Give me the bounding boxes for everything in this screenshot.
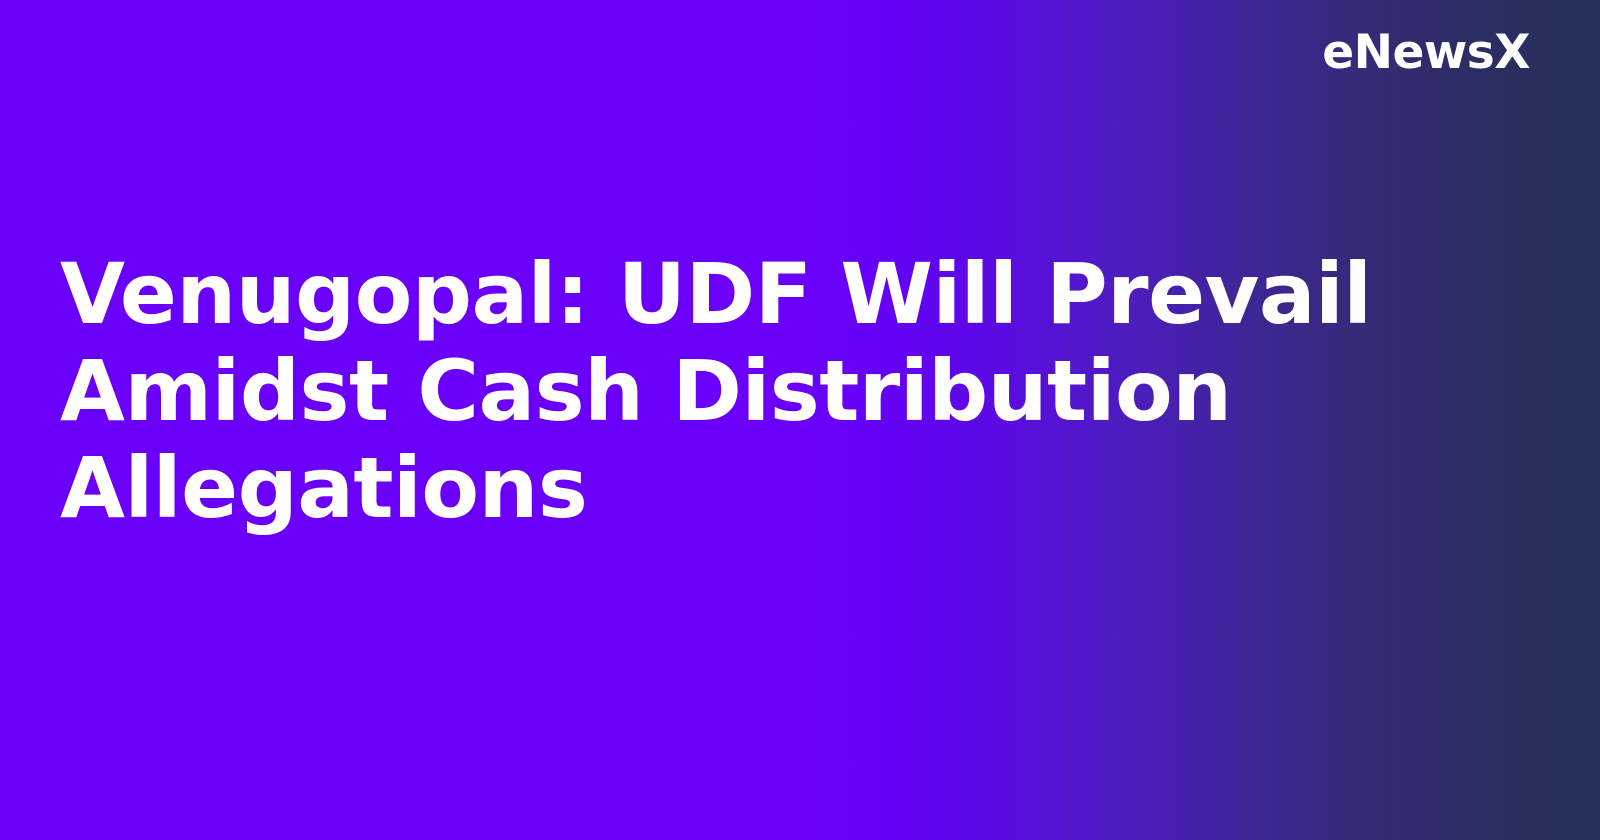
headline-line-1: Venugopal: UDF Will Prevail [60,246,1460,343]
headline-block: Venugopal: UDF Will Prevail Amidst Cash … [60,246,1460,537]
brand-header: eNewsX [0,26,1530,80]
page-title: Venugopal: UDF Will Prevail Amidst Cash … [60,246,1460,537]
headline-line-2: Amidst Cash Distribution [60,343,1460,440]
news-headline-card: eNewsX Venugopal: UDF Will Prevail Amids… [0,0,1600,840]
brand-logo[interactable]: eNewsX [1322,26,1530,80]
headline-line-3: Allegations [60,440,1460,537]
